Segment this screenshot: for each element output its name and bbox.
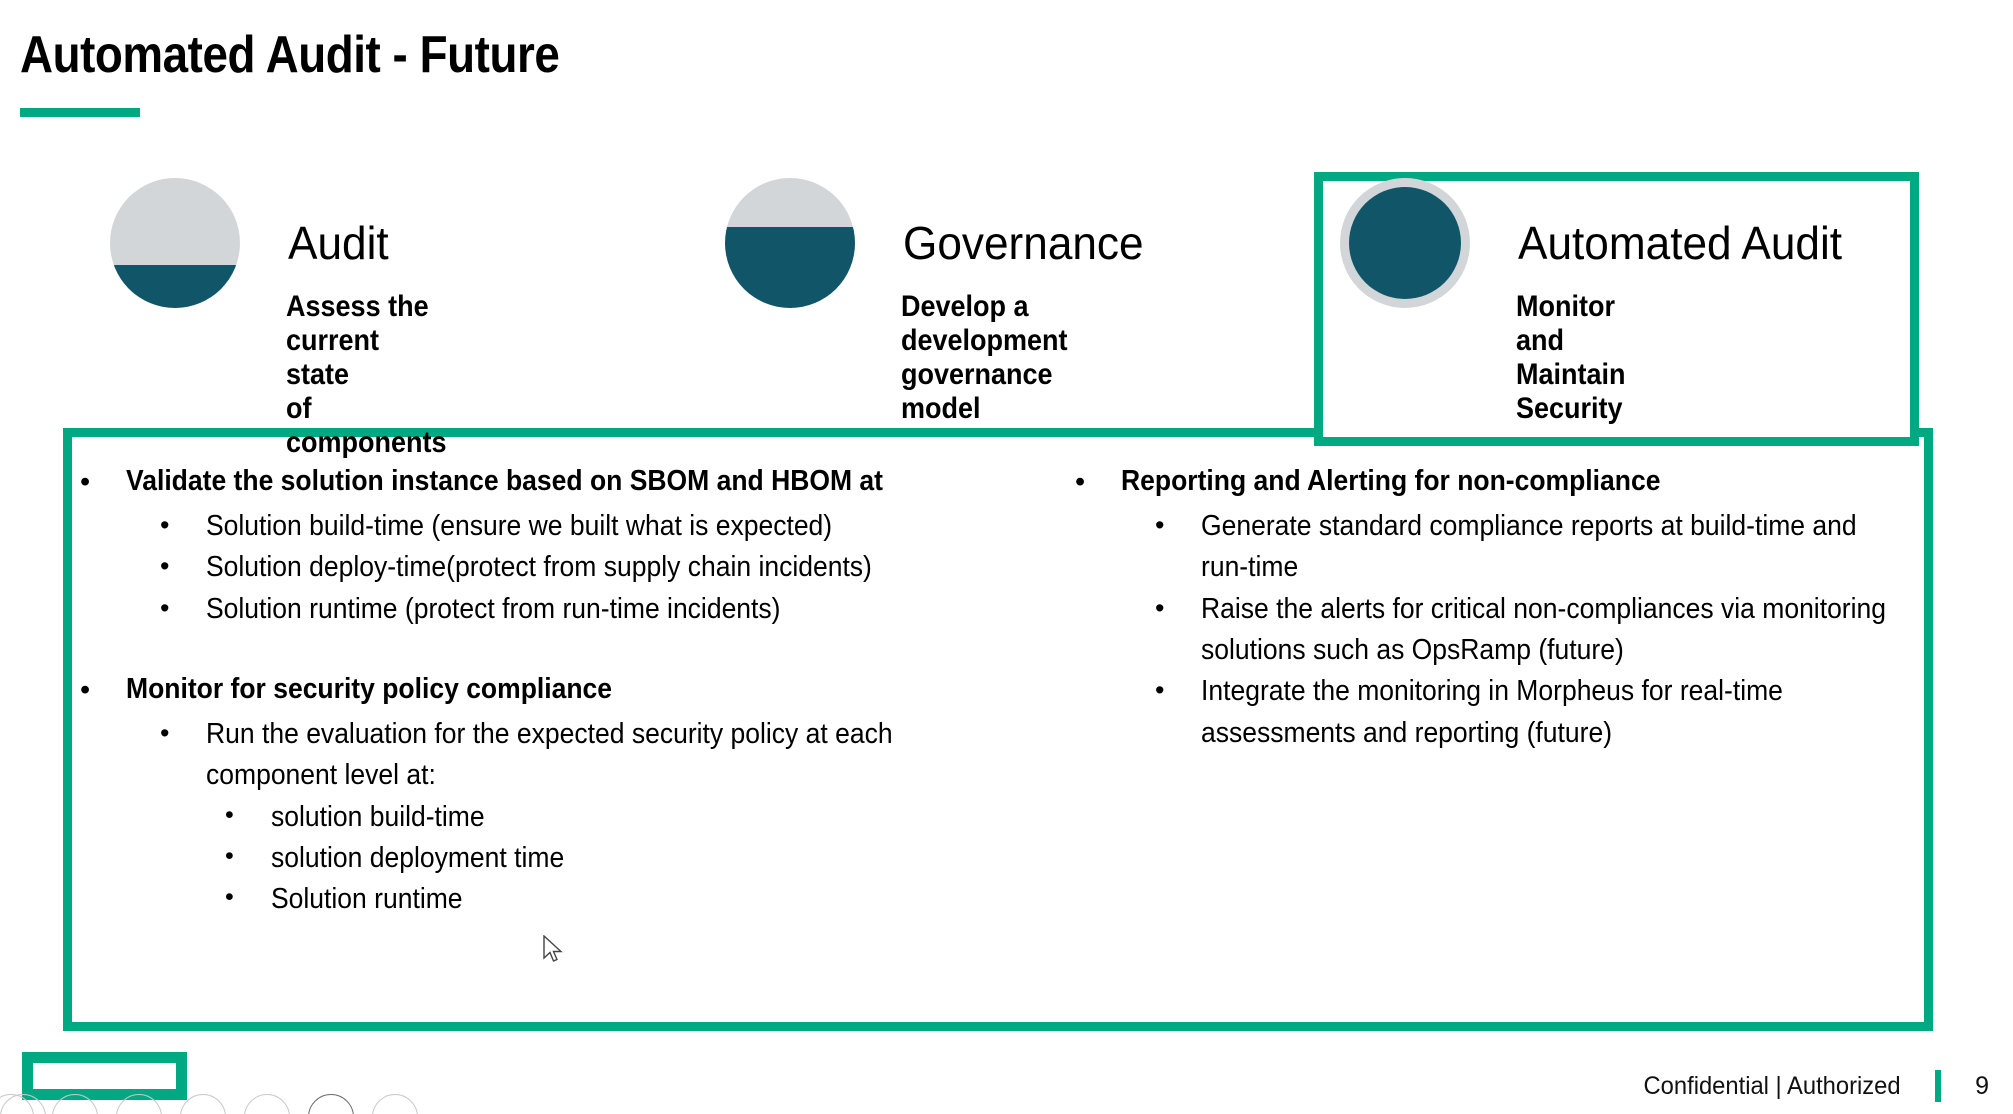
bullet-dot-icon: • [1155,671,1201,710]
taskbar-icon-5[interactable] [180,1094,226,1114]
bullet-dot-icon: • [1155,589,1201,628]
taskbar-icon-7[interactable] [308,1094,354,1114]
bullet-item: •Solution deploy-time(protect from suppl… [80,547,1010,588]
bullet-dot-icon: • [1075,462,1121,502]
bullet-item: •solution build-time [80,797,1010,838]
bullet-text: Reporting and Alerting for non-complianc… [1121,462,1897,501]
bullet-text: Solution runtime [271,879,958,920]
page-title: Automated Audit - Future [20,28,559,83]
footer-divider [1935,1070,1941,1102]
bullet-item: •Validate the solution instance based on… [80,462,1010,502]
bullet-group-gap [80,630,1010,670]
bullet-dot-icon: • [225,797,271,833]
content-column-left: •Validate the solution instance based on… [80,462,1010,921]
taskbar[interactable] [0,1086,460,1114]
bullet-item: •Integrate the monitoring in Morpheus fo… [1075,671,1955,754]
bullet-dot-icon: • [160,714,206,753]
bullet-item: •Generate standard compliance reports at… [1075,506,1955,589]
bullet-text: Solution build-time (ensure we built wha… [206,506,954,547]
bullet-dot-icon: • [160,506,206,545]
pillar-automated-audit-label: Automated Audit [1518,216,1842,270]
taskbar-icon-6[interactable] [244,1094,290,1114]
taskbar-icon-8[interactable] [372,1094,418,1114]
bullet-dot-icon: • [80,670,126,710]
pillar-audit-subtitle: Assess the current state of components [286,290,447,459]
bullet-dot-icon: • [225,838,271,874]
bullet-text: Validate the solution instance based on … [126,462,948,501]
bullet-dot-icon: • [225,879,271,915]
bullet-item: •Solution build-time (ensure we built wh… [80,506,1010,547]
bullet-item: •Solution runtime (protect from run-time… [80,589,1010,630]
bullet-item: •Monitor for security policy compliance [80,670,1010,710]
bullet-item: •Run the evaluation for the expected sec… [80,714,1010,797]
content-column-right: •Reporting and Alerting for non-complian… [1075,462,1955,754]
title-accent-bar [20,108,140,117]
highlight-box-merge-notch [1323,428,1910,437]
bullet-text: Monitor for security policy compliance [126,670,948,709]
taskbar-icon-2[interactable] [52,1094,98,1114]
footer: Confidential | Authorized 9 [1630,1070,1989,1102]
bullet-text: Generate standard compliance reports at … [1201,506,1902,589]
footer-classification: Confidential | Authorized [1644,1072,1901,1101]
bullet-text: Solution runtime (protect from run-time … [206,589,954,630]
bullet-text: Solution deploy-time(protect from supply… [206,547,954,588]
bullet-item: •Raise the alerts for critical non-compl… [1075,589,1955,672]
pillar-automated-audit-subtitle: Monitor and Maintain Security [1516,290,1625,426]
half-filled-circle-icon [110,178,240,308]
bullet-dot-icon: • [160,589,206,628]
bullet-text: solution build-time [271,797,958,838]
bullet-item: •Solution runtime [80,879,1010,920]
pillar-governance-label: Governance [903,216,1144,270]
bullet-item: •solution deployment time [80,838,1010,879]
pillar-audit-label: Audit [288,216,389,270]
page-number: 9 [1969,1072,1989,1101]
bullet-text: Integrate the monitoring in Morpheus for… [1201,671,1902,754]
bullet-text: Raise the alerts for critical non-compli… [1201,589,1902,672]
pillar-governance-subtitle: Develop a development governance model [901,290,1068,426]
taskbar-icon-3[interactable] [116,1094,162,1114]
bullet-dot-icon: • [1155,506,1201,545]
two-thirds-filled-circle-icon [725,178,855,308]
bullet-dot-icon: • [160,547,206,586]
bullet-dot-icon: • [80,462,126,502]
full-filled-circle-icon [1340,178,1470,308]
bullet-text: Run the evaluation for the expected secu… [206,714,954,797]
bullet-item: •Reporting and Alerting for non-complian… [1075,462,1955,502]
bullet-text: solution deployment time [271,838,958,879]
